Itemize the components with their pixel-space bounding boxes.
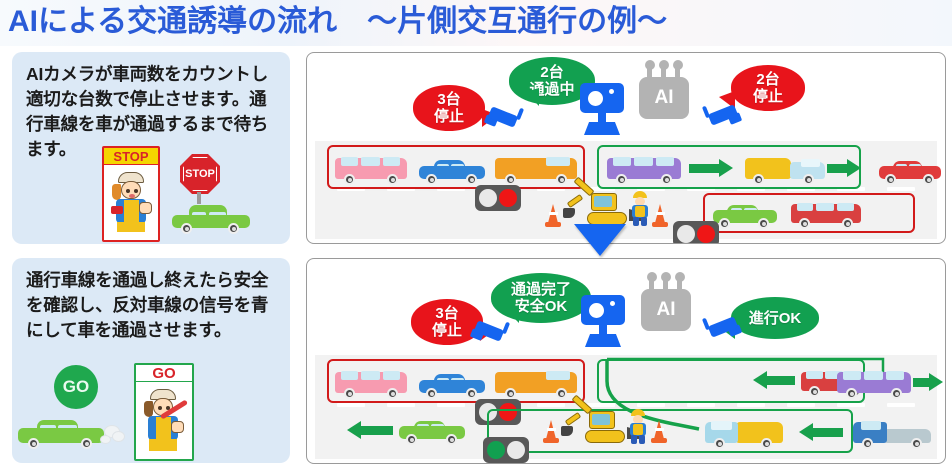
signal-lamp-red [697, 225, 715, 243]
vehicle-pink-van [335, 153, 407, 185]
ai-camera-icon [578, 83, 628, 137]
arrow-right-icon [689, 159, 733, 178]
stop-placard-label: STOP [104, 148, 158, 165]
signal-lamp-green [677, 225, 695, 243]
go-placard-label: GO [152, 365, 175, 382]
green-car-sprite [172, 200, 250, 234]
excavator-icon [575, 181, 637, 225]
go-placard: GO [134, 363, 194, 461]
flagger-figure [137, 383, 191, 459]
vehicle-orange-truck [495, 153, 577, 185]
ai-chip-label: AI [655, 87, 674, 109]
cctv-camera-icon [485, 107, 523, 129]
excavator-icon [573, 399, 635, 443]
vehicle-blue-car [419, 155, 485, 185]
caption-panel-step1: AIカメラが車両数をカウントし適切な台数で停止させます。通行車線を車が通過するま… [12, 52, 290, 244]
traffic-cone-icon [652, 203, 668, 227]
traffic-signal-right [483, 437, 529, 463]
vehicle-green-car [713, 199, 777, 229]
go-badge-icon: GO [54, 365, 98, 409]
arrow-right-icon [913, 373, 943, 392]
vehicle-purple-van [837, 367, 911, 399]
vehicle-blue-yellow-truck [705, 417, 783, 449]
caption-art-step2: GO GO [12, 367, 290, 463]
exhaust-puff [100, 435, 111, 444]
page-title: AIによる交通誘導の流れ ～片側交互通行の例～ [8, 2, 808, 42]
traffic-cone-icon [651, 419, 667, 443]
signal-lamp-green [487, 441, 505, 459]
worker-icon [629, 191, 651, 225]
diagram-panel-step1: 3台 停止 2台 通過中 2台 停止 AI [306, 52, 946, 244]
vehicle-pink-van [335, 367, 407, 399]
arrow-left-icon [347, 421, 393, 440]
signal-lamp-green [479, 189, 497, 207]
vehicle-orange-truck [495, 367, 577, 399]
bubble-line1: 2台 [540, 64, 563, 81]
go-badge-label: GO [63, 377, 89, 397]
signal-lamp-red [507, 441, 525, 459]
vehicle-red-van [791, 199, 861, 229]
vehicle-red-car [879, 155, 941, 185]
bubble-tail [525, 88, 539, 106]
caption-art-step1: STOP STOP [12, 148, 290, 244]
arrow-left-icon [753, 371, 795, 390]
ai-chip-icon: AI [639, 63, 689, 119]
bubble-line1: 2台 [756, 71, 779, 88]
bubble-stop-left: 3台 停止 [413, 85, 485, 131]
stop-sign-label: STOP [185, 168, 215, 180]
arrow-right-icon [827, 159, 861, 178]
flow-down-arrow-icon [574, 224, 626, 256]
traffic-signal-right [673, 221, 719, 244]
stop-placard: STOP [102, 146, 160, 242]
vehicle-blue-pickup [853, 417, 931, 449]
vehicle-yellow-truck [745, 153, 825, 185]
traffic-cone-icon [543, 419, 559, 443]
caption-text-step2: 通行車線を通過し終えたら安全を確認し、反対車線の信号を青にして車を通過させます。 [26, 268, 278, 343]
signal-lamp-red [499, 189, 517, 207]
traffic-cone-icon [545, 203, 561, 227]
exhaust-puff [112, 431, 125, 442]
bubble-line2: 停止 [753, 88, 783, 105]
vehicle-blue-car [419, 369, 485, 399]
arrow-left-icon [799, 423, 843, 442]
green-car-sprite [18, 411, 104, 449]
caption-panel-step2: 通行車線を通過し終えたら安全を確認し、反対車線の信号を青にして車を通過させます。… [12, 258, 290, 463]
bubble-line1: 3台 [437, 91, 460, 108]
diagram-panel-step2: 3台 停止 通過完了 安全OK 進行OK AI [306, 258, 946, 464]
bubble-line2: 停止 [434, 108, 464, 125]
cctv-camera-icon [703, 105, 741, 127]
stop-sign-icon: STOP [180, 154, 220, 194]
flagger-figure [105, 166, 157, 240]
vehicle-green-car [399, 415, 465, 445]
worker-icon [627, 409, 649, 443]
traffic-signal-left [475, 185, 521, 211]
bubble-stop-right: 2台 停止 [731, 65, 805, 111]
